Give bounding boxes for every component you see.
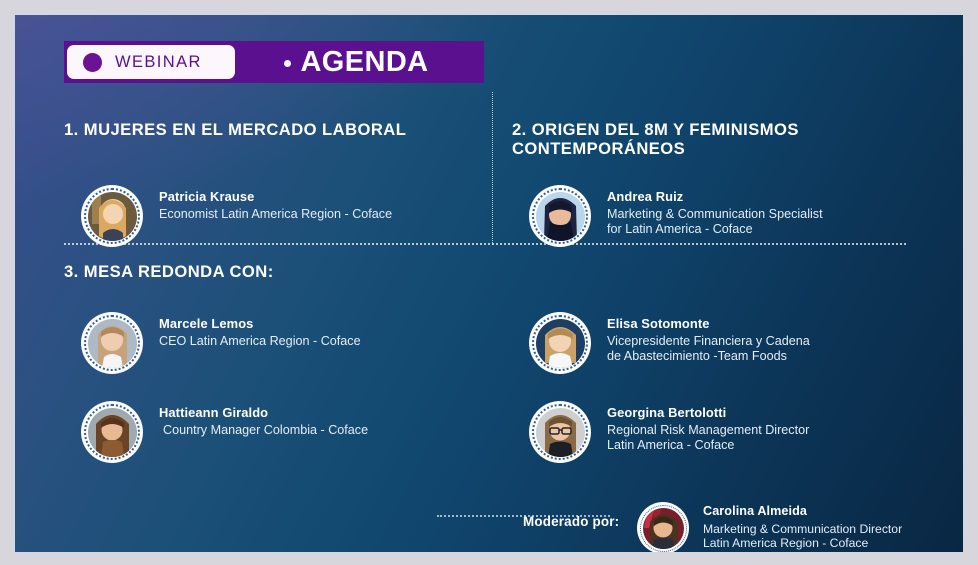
page-title: AGENDA [300, 46, 428, 79]
avatar-ring [84, 404, 140, 460]
speaker-text: Georgina Bertolotti Regional Risk Manage… [607, 401, 809, 453]
speaker-name: Marcele Lemos [159, 316, 361, 332]
avatar-ring [532, 404, 588, 460]
speaker-role: Vicepresidente Financiera y Cadena de Ab… [607, 334, 810, 364]
speaker-name: Elisa Sotomonte [607, 316, 810, 332]
moderator-label: Moderado por: [523, 514, 619, 529]
speaker-role: CEO Latin America Region - Coface [159, 334, 361, 349]
speaker-entry: Hattieann Giraldo Country Manager Colomb… [81, 401, 368, 463]
agenda-slide: WEBINAR AGENDA 1. MUJERES EN EL MERCADO … [15, 15, 963, 552]
avatar-hattieann-giraldo [81, 401, 143, 463]
speaker-entry: Georgina Bertolotti Regional Risk Manage… [529, 401, 809, 463]
speaker-name: Andrea Ruiz [607, 189, 823, 205]
speaker-text: Andrea Ruiz Marketing & Communication Sp… [607, 185, 823, 237]
webinar-badge: WEBINAR [67, 45, 235, 79]
avatar-ring [532, 315, 588, 371]
section-title-2: 2. ORIGEN DEL 8M Y FEMINISMOS CONTEMPORÁ… [512, 121, 912, 158]
speaker-role: Economist Latin America Region - Coface [159, 207, 392, 222]
moderator-name: Carolina Almeida [703, 504, 902, 520]
slide-stage: WEBINAR AGENDA 1. MUJERES EN EL MERCADO … [0, 0, 978, 565]
speaker-entry: Patricia Krause Economist Latin America … [81, 185, 392, 247]
avatar-ring [640, 505, 687, 552]
speaker-entry: Andrea Ruiz Marketing & Communication Sp… [529, 185, 823, 247]
avatar-ring [532, 188, 588, 244]
header-bar: WEBINAR AGENDA [64, 41, 484, 83]
speaker-name: Hattieann Giraldo [159, 405, 368, 421]
vertical-dotted-divider [492, 92, 493, 245]
speaker-role: Country Manager Colombia - Coface [159, 423, 368, 438]
section-title-1: 1. MUJERES EN EL MERCADO LABORAL [64, 121, 494, 140]
section-title-3: 3. MESA REDONDA CON: [64, 263, 494, 282]
bullet-dot-icon [284, 60, 291, 67]
avatar-marcele-lemos [81, 312, 143, 374]
avatar-patricia-krause [81, 185, 143, 247]
avatar-andrea-ruiz [529, 185, 591, 247]
agenda-title-group: AGENDA [235, 46, 478, 79]
avatar-ring [84, 315, 140, 371]
speaker-entry: Marcele Lemos CEO Latin America Region -… [81, 312, 361, 374]
avatar-carolina-almeida [637, 502, 689, 552]
filled-circle-icon [83, 53, 102, 72]
speaker-role: Marketing & Communication Specialist for… [607, 207, 823, 237]
avatar-elisa-sotomonte [529, 312, 591, 374]
speaker-text: Elisa Sotomonte Vicepresidente Financier… [607, 312, 810, 364]
speaker-text: Patricia Krause Economist Latin America … [159, 185, 392, 222]
speaker-name: Patricia Krause [159, 189, 392, 205]
speaker-role: Regional Risk Management Director Latin … [607, 423, 809, 453]
speaker-text: Marcele Lemos CEO Latin America Region -… [159, 312, 361, 349]
moderator-role: Marketing & Communication Director Latin… [703, 522, 902, 551]
moderator-text: Carolina Almeida Marketing & Communicati… [703, 502, 902, 551]
avatar-georgina-bertolotti [529, 401, 591, 463]
speaker-name: Georgina Bertolotti [607, 405, 809, 421]
webinar-badge-label: WEBINAR [115, 53, 202, 72]
speaker-entry: Elisa Sotomonte Vicepresidente Financier… [529, 312, 810, 374]
moderator-entry: Carolina Almeida Marketing & Communicati… [637, 502, 902, 552]
speaker-text: Hattieann Giraldo Country Manager Colomb… [159, 401, 368, 438]
avatar-ring [84, 188, 140, 244]
